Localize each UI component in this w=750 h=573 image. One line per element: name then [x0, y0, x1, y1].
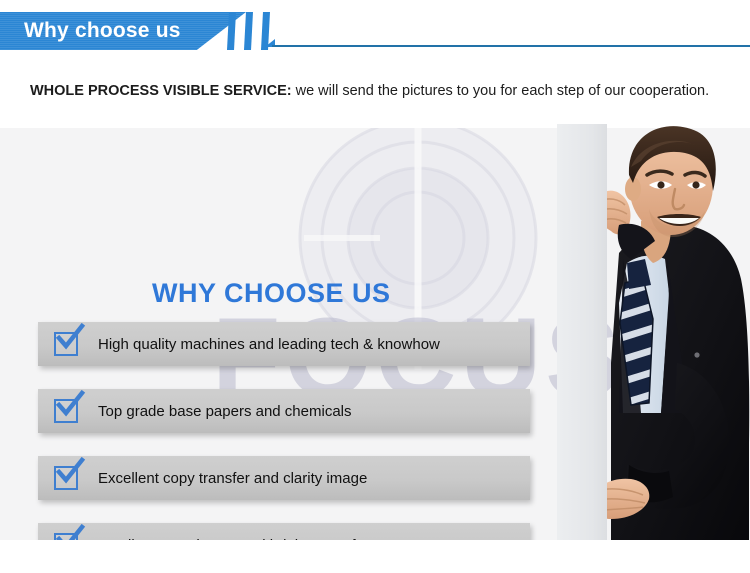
banner-rule	[272, 45, 750, 47]
benefit-list: High quality machines and leading tech &…	[38, 322, 530, 540]
page-root: Why choose us WHOLE PROCESS VISIBLE SERV…	[0, 0, 750, 573]
list-item[interactable]: Top grade base papers and chemicals	[38, 389, 530, 433]
checkbox-checked-icon[interactable]	[54, 332, 78, 356]
white-board	[557, 124, 607, 540]
list-item[interactable]: Leading smoothness and brightness of pap…	[38, 523, 530, 540]
banner-stripe-2	[244, 12, 253, 50]
list-item-label: Excellent copy transfer and clarity imag…	[98, 470, 367, 487]
intro-lead: WHOLE PROCESS VISIBLE SERVICE:	[30, 83, 292, 99]
list-item-label: High quality machines and leading tech &…	[98, 336, 440, 353]
list-item-label: Leading smoothness and brightness of pap…	[98, 537, 398, 541]
page-title: WHY CHOOSE US	[152, 278, 391, 309]
banner-title: Why choose us	[24, 12, 181, 50]
list-item[interactable]: Excellent copy transfer and clarity imag…	[38, 456, 530, 500]
intro-paragraph: WHOLE PROCESS VISIBLE SERVICE: we will s…	[30, 77, 720, 106]
list-item[interactable]: High quality machines and leading tech &…	[38, 322, 530, 366]
checkbox-checked-icon[interactable]	[54, 533, 78, 540]
businessman-photo	[557, 113, 750, 540]
list-item-label: Top grade base papers and chemicals	[98, 403, 352, 420]
intro-body: we will send the pictures to you for eac…	[292, 83, 710, 99]
checkbox-checked-icon[interactable]	[54, 466, 78, 490]
checkbox-checked-icon[interactable]	[54, 399, 78, 423]
